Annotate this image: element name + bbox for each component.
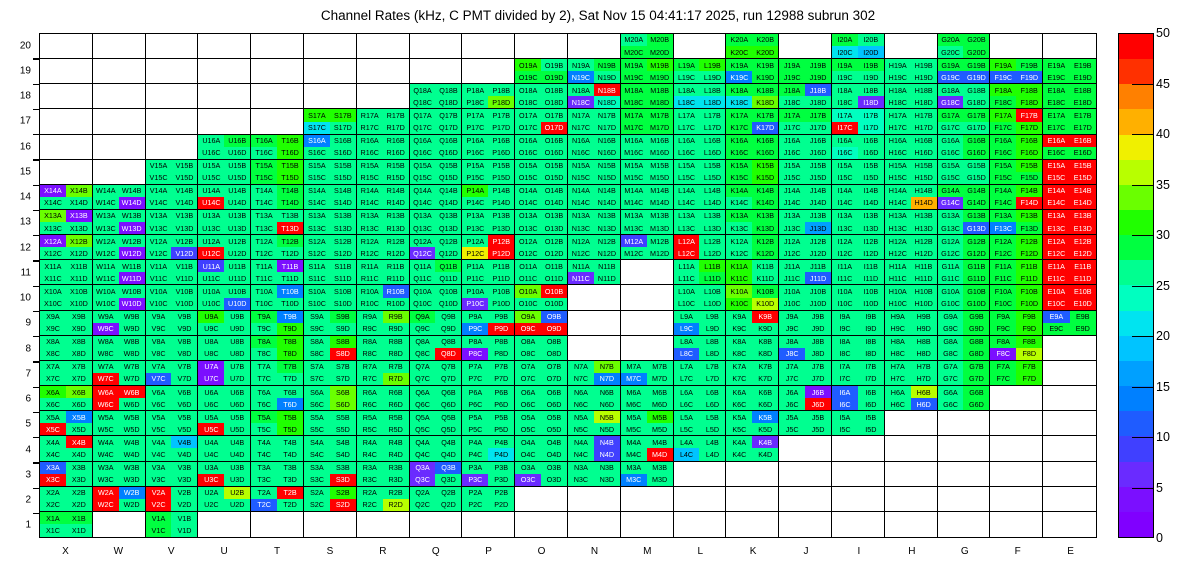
- heatmap-cell-E7: [1043, 361, 1096, 386]
- channel-P5D: P5D: [488, 423, 514, 435]
- heatmap-cell-L9: L9AL9BL9CL9D: [674, 311, 727, 336]
- y-tick-label-13: 13: [0, 217, 31, 228]
- channel-Q3C: Q3C: [410, 474, 436, 486]
- channel-V12D: V12D: [171, 247, 197, 259]
- channel-E12C: E12C: [1043, 247, 1069, 259]
- channel-G16D: G16D: [963, 147, 989, 159]
- heatmap-cell-F8: F8AF8BF8CF8D: [990, 336, 1043, 361]
- heatmap-cell-U14: U14AU14BU14CU14D: [198, 185, 251, 210]
- heatmap-cell-T15: T15AT15BT15CT15D: [251, 160, 304, 185]
- channel-I12B: I12B: [858, 235, 884, 247]
- channel-E17B: E17B: [1070, 109, 1096, 121]
- channel-V18B: [171, 84, 197, 96]
- channel-T20D: [277, 46, 303, 58]
- channel-Q15D: Q15D: [435, 172, 461, 184]
- channel-X2D: X2D: [66, 499, 92, 511]
- channel-E18B: E18B: [1070, 84, 1096, 96]
- channel-X13C: X13C: [40, 222, 66, 234]
- channel-J1D: [805, 524, 831, 537]
- heatmap-cell-Q15: Q15AQ15BQ15CQ15D: [410, 160, 463, 185]
- channel-F19B: F19B: [1016, 59, 1042, 71]
- heatmap-cell-X3: X3AX3BX3CX3D: [40, 462, 93, 487]
- channel-G8A: G8A: [938, 336, 964, 348]
- channel-X17D: [66, 122, 92, 134]
- channel-F4B: [1016, 436, 1042, 448]
- channel-V17B: [171, 109, 197, 121]
- channel-U14A: U14A: [198, 185, 224, 197]
- channel-S9D: S9D: [330, 323, 356, 335]
- channel-I19B: I19B: [858, 59, 884, 71]
- channel-P16B: P16B: [488, 135, 514, 147]
- channel-I16B: I16B: [858, 135, 884, 147]
- channel-R7C: R7C: [357, 373, 383, 385]
- channel-E1B: [1070, 512, 1096, 525]
- channel-P2D: P2D: [488, 499, 514, 511]
- channel-N4D: N4D: [594, 448, 620, 460]
- channel-M17C: M17C: [621, 122, 647, 134]
- x-tick-label-P: P: [469, 546, 509, 557]
- heatmap-cell-V8: V8AV8BV8CV8D: [146, 336, 199, 361]
- heatmap-cell-Q5: Q5AQ5BQ5CQ5D: [410, 411, 463, 436]
- channel-P9D: P9D: [488, 323, 514, 335]
- channel-P8D: P8D: [488, 348, 514, 360]
- channel-T1A: [251, 512, 277, 525]
- channel-G12A: G12A: [938, 235, 964, 247]
- heatmap-cell-J13: J13AJ13BJ13CJ13D: [779, 210, 832, 235]
- heatmap-cell-F19: F19AF19BF19CF19D: [990, 59, 1043, 84]
- channel-X4D: X4D: [66, 448, 92, 460]
- channel-O12D: O12D: [541, 247, 567, 259]
- heatmap-cell-L8: L8AL8BL8CL8D: [674, 336, 727, 361]
- channel-P3C: P3C: [462, 474, 488, 486]
- heatmap-cell-S3: S3AS3BS3CS3D: [304, 462, 357, 487]
- channel-O9C: O9C: [515, 323, 541, 335]
- heatmap-cell-M7: M7AM7BM7CM7D: [621, 361, 674, 386]
- channel-U4B: U4B: [224, 436, 250, 448]
- x-tick-label-X: X: [45, 546, 85, 557]
- channel-U12D: U12D: [224, 247, 250, 259]
- channel-N2A: [568, 487, 594, 499]
- heatmap-cell-L18: L18AL18BL18CL18D: [674, 84, 727, 109]
- channel-F16D: F16D: [1016, 147, 1042, 159]
- channel-W3B: W3B: [119, 462, 145, 474]
- channel-I3D: [858, 474, 884, 486]
- heatmap-cell-M15: M15AM15BM15CM15D: [621, 160, 674, 185]
- channel-E17D: E17D: [1070, 122, 1096, 134]
- channel-U13B: U13B: [224, 210, 250, 222]
- channel-L11A: L11A: [674, 260, 700, 272]
- channel-F18A: F18A: [990, 84, 1016, 96]
- channel-L6D: L6D: [699, 398, 725, 410]
- heatmap-cell-I1: [832, 512, 885, 537]
- channel-E3D: [1070, 474, 1096, 486]
- channel-L4B: L4B: [699, 436, 725, 448]
- channel-P12B: P12B: [488, 235, 514, 247]
- heatmap-cell-G17: G17AG17BG17CG17D: [938, 109, 991, 134]
- channel-F6B: [1016, 386, 1042, 398]
- channel-I7A: I7A: [832, 361, 858, 373]
- channel-M16A: M16A: [621, 135, 647, 147]
- channel-M12D: M12D: [647, 247, 673, 259]
- channel-I9B: I9B: [858, 311, 884, 323]
- heatmap-cell-V17: [146, 109, 199, 134]
- heatmap-cell-X5: X5AX5BX5CX5D: [40, 411, 93, 436]
- heatmap-cell-G9: G9AG9BG9CG9D: [938, 311, 991, 336]
- channel-P4A: P4A: [462, 436, 488, 448]
- channel-E14C: E14C: [1043, 197, 1069, 209]
- heatmap-cell-I19: I19AI19BI19CI19D: [832, 59, 885, 84]
- heatmap-cell-T6: T6AT6BT6CT6D: [251, 386, 304, 411]
- heatmap-cell-U13: U13AU13BU13CU13D: [198, 210, 251, 235]
- channel-H4D: [911, 448, 937, 460]
- channel-H11B: H11B: [911, 260, 937, 272]
- heatmap-cell-X2: X2AX2BX2CX2D: [40, 487, 93, 512]
- channel-Q7D: Q7D: [435, 373, 461, 385]
- channel-E1D: [1070, 524, 1096, 537]
- heatmap-cell-E4: [1043, 436, 1096, 461]
- channel-W17C: [93, 122, 119, 134]
- channel-X10B: X10B: [66, 285, 92, 297]
- channel-H12A: H12A: [885, 235, 911, 247]
- channel-G14A: G14A: [938, 185, 964, 197]
- channel-R6C: R6C: [357, 398, 383, 410]
- channel-O15C: O15C: [515, 172, 541, 184]
- channel-H11D: H11D: [911, 272, 937, 284]
- heatmap-cell-K17: K17AK17BK17CK17D: [726, 109, 779, 134]
- channel-L4C: L4C: [674, 448, 700, 460]
- channel-V10C: V10C: [146, 298, 172, 310]
- channel-U12A: U12A: [198, 235, 224, 247]
- channel-V4C: V4C: [146, 448, 172, 460]
- channel-F8D: F8D: [1016, 348, 1042, 360]
- channel-M11D: [647, 272, 673, 284]
- channel-P8B: P8B: [488, 336, 514, 348]
- channel-Q1D: [435, 524, 461, 537]
- channel-J1B: [805, 512, 831, 525]
- y-tick-label-17: 17: [0, 116, 31, 127]
- heatmap-cell-W20: [93, 34, 146, 59]
- heatmap-cell-J12: J12AJ12BJ12CJ12D: [779, 235, 832, 260]
- channel-E2D: [1070, 499, 1096, 511]
- channel-F11A: F11A: [990, 260, 1016, 272]
- heatmap-cell-L15: L15AL15BL15CL15D: [674, 160, 727, 185]
- channel-E7A: [1043, 361, 1069, 373]
- heatmap-cell-O11: O11AO11BO11CO11D: [515, 260, 568, 285]
- channel-X8C: X8C: [40, 348, 66, 360]
- colorbar-tick-mark: [1132, 134, 1154, 135]
- channel-E4A: [1043, 436, 1069, 448]
- heatmap-cell-J15: J15AJ15BJ15CJ15D: [779, 160, 832, 185]
- channel-K12A: K12A: [726, 235, 752, 247]
- channel-F8A: F8A: [990, 336, 1016, 348]
- channel-P9B: P9B: [488, 311, 514, 323]
- channel-G16A: G16A: [938, 135, 964, 147]
- channel-U10D: U10D: [224, 298, 250, 310]
- channel-T16C: T16C: [251, 147, 277, 159]
- channel-F10A: F10A: [990, 285, 1016, 297]
- heatmap-cell-Q9: Q9AQ9BQ9CQ9D: [410, 311, 463, 336]
- channel-K5C: K5C: [726, 423, 752, 435]
- channel-J2B: [805, 487, 831, 499]
- heatmap-cell-E16: E16AE16BE16CE16D: [1043, 135, 1096, 160]
- channel-W12A: W12A: [93, 235, 119, 247]
- channel-U19B: [224, 59, 250, 71]
- channel-O10D: O10D: [541, 298, 567, 310]
- channel-T13B: T13B: [277, 210, 303, 222]
- channel-J16D: J16D: [805, 147, 831, 159]
- heatmap-cell-N13: N13AN13BN13CN13D: [568, 210, 621, 235]
- channel-H5D: [911, 423, 937, 435]
- channel-H18D: H18D: [911, 96, 937, 108]
- heatmap-cell-H4: [885, 436, 938, 461]
- channel-I5A: I5A: [832, 411, 858, 423]
- channel-R9A: R9A: [357, 311, 383, 323]
- channel-E13A: E13A: [1043, 210, 1069, 222]
- channel-W11D: W11D: [119, 272, 145, 284]
- heatmap-cell-T2: T2AT2BT2CT2D: [251, 487, 304, 512]
- channel-H10D: H10D: [911, 298, 937, 310]
- heatmap-cell-G13: G13AG13BG13CG13D: [938, 210, 991, 235]
- channel-G3A: [938, 462, 964, 474]
- channel-W10D: W10D: [119, 298, 145, 310]
- channel-L11D: L11D: [699, 272, 725, 284]
- heatmap-cell-Q1: [410, 512, 463, 537]
- channel-G7D: G7D: [963, 373, 989, 385]
- heatmap-cell-E20: [1043, 34, 1096, 59]
- channel-P15B: P15B: [488, 160, 514, 172]
- heatmap-cell-W4: W4AW4BW4CW4D: [93, 436, 146, 461]
- channel-H7D: H7D: [911, 373, 937, 385]
- colorbar-tick-mark: [1132, 437, 1154, 438]
- channel-H8D: H8D: [911, 348, 937, 360]
- heatmap-cell-W11: W11AW11BW11CW11D: [93, 260, 146, 285]
- channel-O3B: O3B: [541, 462, 567, 474]
- channel-M20D: M20D: [647, 46, 673, 58]
- channel-O12C: O12C: [515, 247, 541, 259]
- heatmap-cell-K11: K11AK11BK11CK11D: [726, 260, 779, 285]
- channel-F6D: [1016, 398, 1042, 410]
- channel-L17B: L17B: [699, 109, 725, 121]
- channel-F1D: [1016, 524, 1042, 537]
- channel-U8D: U8D: [224, 348, 250, 360]
- channel-R9B: R9B: [383, 311, 409, 323]
- channel-U7B: U7B: [224, 361, 250, 373]
- channel-W18C: [93, 96, 119, 108]
- channel-G15A: G15A: [938, 160, 964, 172]
- heatmap-cell-M4: M4AM4BM4CM4D: [621, 436, 674, 461]
- heatmap-cell-S18: [304, 84, 357, 109]
- channel-U11D: U11D: [224, 272, 250, 284]
- heatmap-cell-O5: O5AO5BO5CO5D: [515, 411, 568, 436]
- heatmap-cell-R3: R3AR3BR3CR3D: [357, 462, 410, 487]
- heatmap-cell-E6: [1043, 386, 1096, 411]
- channel-X11D: X11D: [66, 272, 92, 284]
- channel-M15A: M15A: [621, 160, 647, 172]
- channel-G18D: G18D: [963, 96, 989, 108]
- heatmap-cell-K12: K12AK12BK12CK12D: [726, 235, 779, 260]
- heatmap-cell-H7: H7AH7BH7CH7D: [885, 361, 938, 386]
- heatmap-cell-K14: K14AK14BK14CK14D: [726, 185, 779, 210]
- channel-F11C: F11C: [990, 272, 1016, 284]
- heatmap-cell-W12: W12AW12BW12CW12D: [93, 235, 146, 260]
- channel-M5B: M5B: [647, 411, 673, 423]
- channel-O5B: O5B: [541, 411, 567, 423]
- channel-S1A: [304, 512, 330, 525]
- heatmap-cell-J7: J7AJ7BJ7CJ7D: [779, 361, 832, 386]
- channel-X7D: X7D: [66, 373, 92, 385]
- channel-P18C: P18C: [462, 96, 488, 108]
- channel-E12A: E12A: [1043, 235, 1069, 247]
- channel-P4C: P4C: [462, 448, 488, 460]
- heatmap-cell-L4: L4AL4BL4CL4D: [674, 436, 727, 461]
- channel-P16C: P16C: [462, 147, 488, 159]
- channel-L1D: [699, 524, 725, 537]
- heatmap-cell-W5: W5AW5BW5CW5D: [93, 411, 146, 436]
- channel-K9A: K9A: [726, 311, 752, 323]
- channel-Q1A: [410, 512, 436, 525]
- channel-N11A: N11A: [568, 260, 594, 272]
- channel-L1B: [699, 512, 725, 525]
- channel-Q2A: Q2A: [410, 487, 436, 499]
- channel-T12B: T12B: [277, 235, 303, 247]
- channel-K20C: K20C: [726, 46, 752, 58]
- heatmap-cell-L10: L10AL10BL10CL10D: [674, 285, 727, 310]
- channel-M1A: [621, 512, 647, 525]
- channel-R15A: R15A: [357, 160, 383, 172]
- channel-V3D: V3D: [171, 474, 197, 486]
- channel-V14D: V14D: [171, 197, 197, 209]
- heatmap-cell-U11: U11AU11BU11CU11D: [198, 260, 251, 285]
- channel-K13D: K13D: [752, 222, 778, 234]
- channel-N16B: N16B: [594, 135, 620, 147]
- channel-S11D: S11D: [330, 272, 356, 284]
- channel-G9D: G9D: [963, 323, 989, 335]
- channel-P6D: P6D: [488, 398, 514, 410]
- channel-W9D: W9D: [119, 323, 145, 335]
- channel-P19A: [462, 59, 488, 71]
- heatmap-cell-F5: [990, 411, 1043, 436]
- channel-W10B: W10B: [119, 285, 145, 297]
- channel-J2D: [805, 499, 831, 511]
- channel-J3A: [779, 462, 805, 474]
- channel-P11D: P11D: [488, 272, 514, 284]
- channel-G10A: G10A: [938, 285, 964, 297]
- channel-N13B: N13B: [594, 210, 620, 222]
- channel-S17D: S17D: [330, 122, 356, 134]
- channel-S7B: S7B: [330, 361, 356, 373]
- channel-O14C: O14C: [515, 197, 541, 209]
- colorbar-tick-label-45: 45: [1156, 77, 1170, 91]
- heatmap-cell-O18: O18AO18BO18CO18D: [515, 84, 568, 109]
- channel-L6A: L6A: [674, 386, 700, 398]
- channel-P1A: [462, 512, 488, 525]
- channel-U2C: U2C: [198, 499, 224, 511]
- heatmap-cell-K10: K10AK10BK10CK10D: [726, 285, 779, 310]
- channel-W12D: W12D: [119, 247, 145, 259]
- channel-O15A: O15A: [515, 160, 541, 172]
- channel-S5D: S5D: [330, 423, 356, 435]
- channel-U13C: U13C: [198, 222, 224, 234]
- channel-N7D: N7D: [594, 373, 620, 385]
- channel-X3B: X3B: [66, 462, 92, 474]
- channel-U10C: U10C: [198, 298, 224, 310]
- channel-F2B: [1016, 487, 1042, 499]
- channel-T6D: T6D: [277, 398, 303, 410]
- heatmap-cell-X12: X12AX12BX12CX12D: [40, 235, 93, 260]
- channel-F3D: [1016, 474, 1042, 486]
- channel-L15A: L15A: [674, 160, 700, 172]
- channel-K19D: K19D: [752, 71, 778, 83]
- channel-H3D: [911, 474, 937, 486]
- channel-T2B: T2B: [277, 487, 303, 499]
- channel-W16A: [93, 135, 119, 147]
- channel-X5B: X5B: [66, 411, 92, 423]
- channel-S9B: S9B: [330, 311, 356, 323]
- channel-E19B: E19B: [1070, 59, 1096, 71]
- channel-W11B: W11B: [119, 260, 145, 272]
- heatmap-cell-S8: S8AS8BS8CS8D: [304, 336, 357, 361]
- channel-V9B: V9B: [171, 311, 197, 323]
- channel-P11C: P11C: [462, 272, 488, 284]
- channel-P10B: P10B: [488, 285, 514, 297]
- channel-F15C: F15C: [990, 172, 1016, 184]
- channel-H3B: [911, 462, 937, 474]
- channel-E15A: E15A: [1043, 160, 1069, 172]
- colorbar-tick-label-0: 0: [1156, 531, 1163, 545]
- channel-R19D: [383, 71, 409, 83]
- channel-O14B: O14B: [541, 185, 567, 197]
- channel-W5C: W5C: [93, 423, 119, 435]
- channel-T20A: [251, 34, 277, 46]
- channel-P13C: P13C: [462, 222, 488, 234]
- channel-X18D: [66, 96, 92, 108]
- channel-X1B: X1B: [66, 512, 92, 525]
- channel-F2A: [990, 487, 1016, 499]
- channel-T4D: T4D: [277, 448, 303, 460]
- channel-P3D: P3D: [488, 474, 514, 486]
- channel-H9A: H9A: [885, 311, 911, 323]
- heatmap-cell-R12: R12AR12BR12CR12D: [357, 235, 410, 260]
- channel-L8D: L8D: [699, 348, 725, 360]
- channel-M5A: M5A: [621, 411, 647, 423]
- channel-E9B: E9B: [1070, 311, 1096, 323]
- channel-T15A: T15A: [251, 160, 277, 172]
- channel-J19C: J19C: [779, 71, 805, 83]
- channel-X4B: X4B: [66, 436, 92, 448]
- heatmap-cell-E9: E9AE9BE9CE9D: [1043, 311, 1096, 336]
- heatmap-plot-area: M20AM20BM20CM20DK20AK20BK20CK20DI20AI20B…: [39, 33, 1097, 538]
- channel-I14C: I14C: [832, 197, 858, 209]
- channel-S19B: [330, 59, 356, 71]
- channel-N10B: [594, 285, 620, 297]
- channel-W8A: W8A: [93, 336, 119, 348]
- heatmap-cell-H15: H15AH15BH15CH15D: [885, 160, 938, 185]
- channel-T3D: T3D: [277, 474, 303, 486]
- channel-K10A: K10A: [726, 285, 752, 297]
- channel-V6B: V6B: [171, 386, 197, 398]
- channel-N18C: N18C: [568, 96, 594, 108]
- channel-R18D: [383, 96, 409, 108]
- channel-Q17D: Q17D: [435, 122, 461, 134]
- channel-U14B: U14B: [224, 185, 250, 197]
- heatmap-cell-V9: V9AV9BV9CV9D: [146, 311, 199, 336]
- channel-M7D: M7D: [647, 373, 673, 385]
- channel-V2D: V2D: [171, 499, 197, 511]
- channel-M10D: [647, 298, 673, 310]
- heatmap-cell-G16: G16AG16BG16CG16D: [938, 135, 991, 160]
- channel-M7A: M7A: [621, 361, 647, 373]
- channel-I17A: I17A: [832, 109, 858, 121]
